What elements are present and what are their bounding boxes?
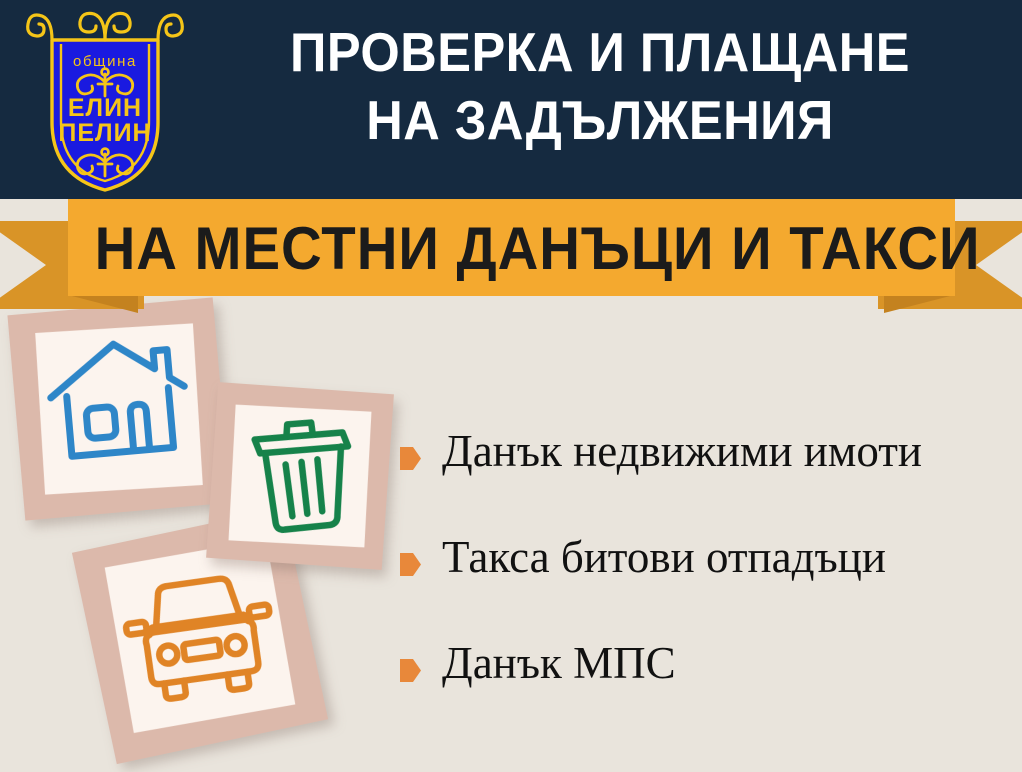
bullet-arrow-icon <box>400 552 421 577</box>
list-item[interactable]: Данък МПС <box>400 632 1015 738</box>
list-item-label: Данък МПС <box>442 632 676 694</box>
stamp-card-waste <box>206 382 394 570</box>
trash-card-graphic <box>206 382 394 570</box>
poster-root: община ЕЛИН ПЕЛИН <box>0 0 1022 772</box>
crest-name-line1: ЕЛИН <box>68 94 142 122</box>
header-banner: община ЕЛИН ПЕЛИН <box>0 0 1022 199</box>
page-title: ПРОВЕРКА И ПЛАЩАНЕ НА ЗАДЪЛЖЕНИЯ <box>223 18 977 154</box>
bullet-arrow-icon <box>400 446 421 471</box>
list-item-label: Данък недвижими имоти <box>442 420 922 482</box>
crest-name-line2: ПЕЛИН <box>58 119 151 147</box>
list-item-label: Такса битови отпадъци <box>442 526 886 588</box>
house-card-graphic <box>7 297 230 520</box>
list-item[interactable]: Данък недвижими имоти <box>400 420 1015 526</box>
tax-types-list: Данък недвижими имоти Такса битови отпад… <box>400 420 1015 738</box>
ribbon-band: НА МЕСТНИ ДАНЪЦИ И ТАКСИ <box>68 199 955 296</box>
page-title-line1: ПРОВЕРКА И ПЛАЩАНЕ <box>223 18 977 86</box>
ribbon-label: НА МЕСТНИ ДАНЪЦИ И ТАКСИ <box>95 199 929 296</box>
list-item[interactable]: Такса битови отпадъци <box>400 526 1015 632</box>
coat-of-arms: община ЕЛИН ПЕЛИН <box>22 4 188 196</box>
page-title-line2: НА ЗАДЪЛЖЕНИЯ <box>223 86 977 154</box>
subtitle-ribbon: НА МЕСТНИ ДАНЪЦИ И ТАКСИ <box>0 199 1022 311</box>
stamp-card-property <box>7 297 230 520</box>
bullet-arrow-icon <box>400 658 421 683</box>
